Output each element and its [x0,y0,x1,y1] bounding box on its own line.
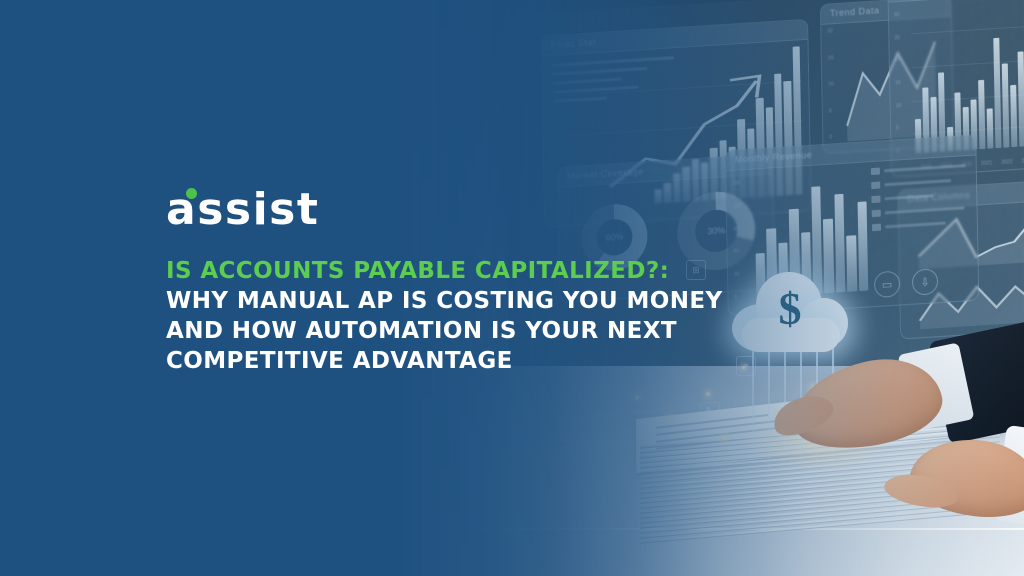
logo-dot-icon [186,188,197,199]
headline-line-3: AND HOW AUTOMATION IS YOUR NEXT [166,316,786,346]
assist-logo[interactable]: assist [166,186,319,234]
headline-line-4: COMPETITIVE ADVANTAGE [166,346,786,376]
hero-banner: ■ ○ █ ⚡ Finac Stat [0,0,1024,576]
hero-content: assist IS ACCOUNTS PAYABLE CAPITALIZED?:… [166,186,786,376]
page-title: IS ACCOUNTS PAYABLE CAPITALIZED?: WHY MA… [166,256,786,376]
headline-line-1: IS ACCOUNTS PAYABLE CAPITALIZED?: [166,256,786,286]
headline-line-2: WHY MANUAL AP IS COSTING YOU MONEY [166,286,786,316]
